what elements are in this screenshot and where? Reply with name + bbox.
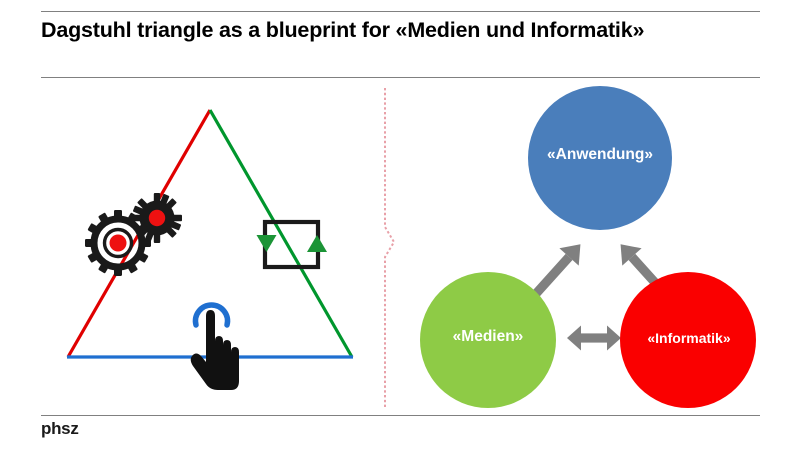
arrow-up-icon xyxy=(307,235,327,252)
slide-canvas: Dagstuhl triangle as a blueprint for «Me… xyxy=(0,0,800,450)
circle-medien[interactable] xyxy=(420,272,556,408)
footer-logo: phsz xyxy=(41,419,79,439)
triangle-edge-right-green xyxy=(210,110,352,357)
arrow-down-icon xyxy=(257,235,277,252)
page-title: Dagstuhl triangle as a blueprint for «Me… xyxy=(41,18,771,43)
gears-icon xyxy=(85,193,182,276)
data-flow-icon xyxy=(257,222,328,267)
header-rule-bottom xyxy=(41,77,760,78)
diagram-artwork xyxy=(0,80,800,415)
footer-rule xyxy=(41,415,760,416)
circles-group xyxy=(420,86,756,408)
circle-anwendung[interactable] xyxy=(528,86,672,230)
arrow-medien-informatik xyxy=(567,326,621,351)
circle-informatik[interactable] xyxy=(620,272,756,408)
tap-hand-icon xyxy=(191,305,239,390)
header-rule-top xyxy=(41,11,760,12)
dotted-chevron-divider xyxy=(385,88,394,408)
